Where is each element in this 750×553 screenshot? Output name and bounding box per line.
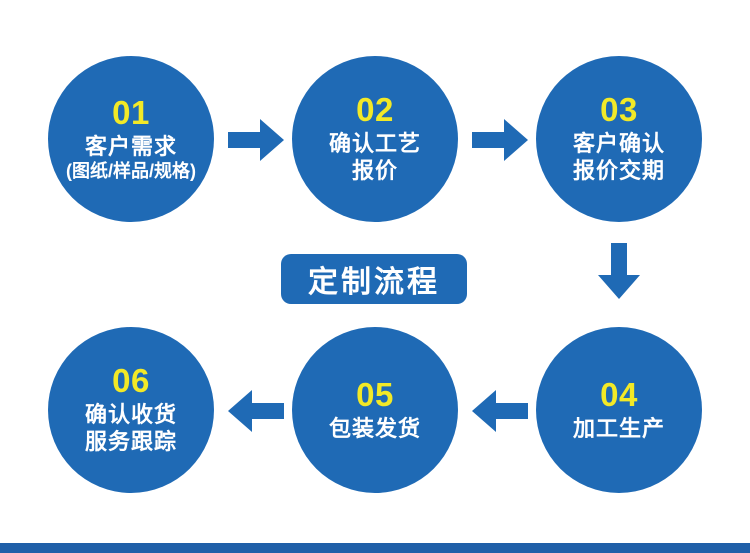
step-04-number: 04 — [600, 378, 638, 413]
flow-diagram: 01 客户需求 (图纸/样品/规格) 02 确认工艺 报价 03 客户确认 报价… — [0, 0, 750, 553]
step-05-circle: 05 包装发货 — [292, 327, 458, 493]
step-02-circle: 02 确认工艺 报价 — [292, 56, 458, 222]
step-02-label-line-1: 确认工艺 — [329, 130, 421, 157]
step-04-label-line-1: 加工生产 — [573, 415, 665, 442]
bottom-accent-bar — [0, 543, 750, 553]
diagram-title: 定制流程 — [308, 257, 440, 301]
step-06-label-line-1: 确认收货 — [85, 401, 177, 428]
step-01-number: 01 — [112, 96, 150, 131]
step-02-number: 02 — [356, 93, 394, 128]
step-01-label-line-2: (图纸/样品/规格) — [66, 160, 196, 182]
step-03-label-line-2: 报价交期 — [573, 157, 665, 184]
step-06-number: 06 — [112, 364, 150, 399]
step-03-number: 03 — [600, 93, 638, 128]
step-06-circle: 06 确认收货 服务跟踪 — [48, 327, 214, 493]
step-01-circle: 01 客户需求 (图纸/样品/规格) — [48, 56, 214, 222]
diagram-title-badge: 定制流程 — [281, 254, 467, 304]
step-03-circle: 03 客户确认 报价交期 — [536, 56, 702, 222]
arrow-right-icon — [228, 119, 284, 161]
step-04-circle: 04 加工生产 — [536, 327, 702, 493]
step-05-number: 05 — [356, 378, 394, 413]
step-03-label-line-1: 客户确认 — [573, 130, 665, 157]
arrow-right-icon — [472, 119, 528, 161]
step-06-label-line-2: 服务跟踪 — [85, 428, 177, 455]
step-01-label-line-1: 客户需求 — [85, 133, 177, 160]
arrow-left-icon — [228, 390, 284, 432]
arrow-down-icon — [598, 243, 640, 299]
step-02-label-line-2: 报价 — [352, 157, 398, 184]
step-05-label-line-1: 包装发货 — [329, 415, 421, 442]
arrow-left-icon — [472, 390, 528, 432]
